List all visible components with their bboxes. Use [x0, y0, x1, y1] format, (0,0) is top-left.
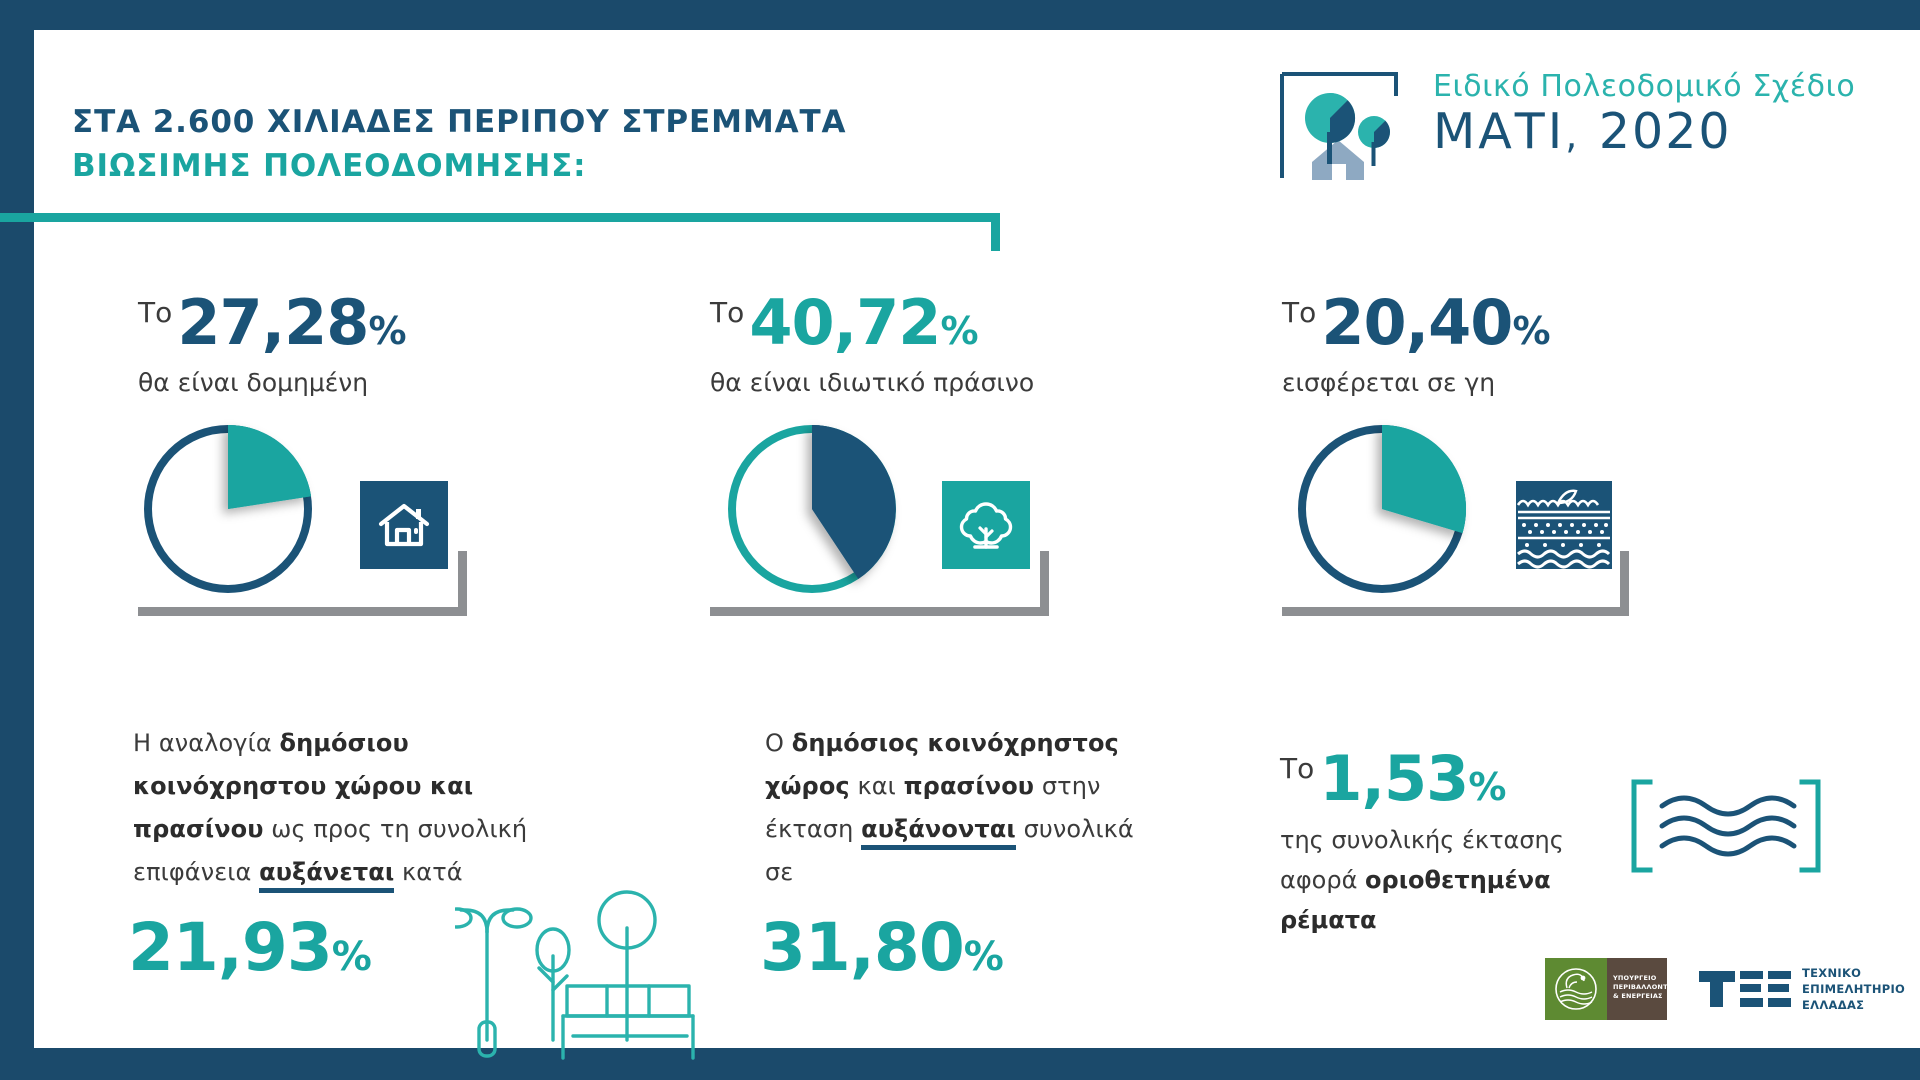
ministry-logo: ΥΠΟΥΡΓΕΙΟ ΠΕΡΙΒΑΛΛΟΝΤΟΣ & ΕΝΕΡΓΕΙΑΣ: [1545, 958, 1667, 1020]
stream-desc-line2-normal: αφορά: [1280, 866, 1365, 894]
frame-bottom-bar: [0, 1048, 1920, 1080]
project-logo-subtitle: Ειδικό Πολεοδομικό Σχέδιο: [1433, 72, 1855, 102]
house-icon: [360, 481, 448, 569]
stat-column-land-contribution: Το 20,40% εισφέρεται σε γη: [1282, 292, 1702, 619]
pie-chart-private-green: [722, 419, 902, 599]
page-title-line1: ΣΤΑ 2.600 ΧΙΛΙΑΔΕΣ ΠΕΡΙΠΟΥ ΣΤΡΕΜΜΑΤΑ: [72, 100, 1012, 144]
stat-percent-sign: %: [1512, 309, 1550, 353]
pie-chart-built: [138, 419, 318, 599]
ministry-logo-text: ΥΠΟΥΡΓΕΙΟ ΠΕΡΙΒΑΛΛΟΝΤΟΣ & ΕΝΕΡΓΕΙΑΣ: [1607, 958, 1667, 1020]
value-percent-sign: %: [964, 934, 1003, 980]
stream-desc-line3-bold: ρέματα: [1280, 906, 1377, 934]
stream-prefix: Το: [1280, 752, 1314, 785]
frame-top-bar: [0, 0, 1920, 30]
stream-headline: Το 1,53%: [1280, 748, 1610, 810]
stat-headline: Το 27,28%: [138, 292, 558, 354]
stat-prefix: Το: [1282, 296, 1316, 329]
project-logo-title: ΜΑΤΙ, 2020: [1433, 107, 1855, 156]
stat-caption: θα είναι δομημένη: [138, 368, 558, 397]
value-number: 31,80: [760, 909, 964, 986]
stat-column-private-green: Το 40,72% θα είναι ιδιωτικό πράσινο: [710, 292, 1130, 619]
stat-headline: Το 40,72%: [710, 292, 1130, 354]
project-logo-text: Ειδικό Πολεοδομικό Σχέδιο ΜΑΤΙ, 2020: [1433, 70, 1855, 156]
project-logo: Ειδικό Πολεοδομικό Σχέδιο ΜΑΤΙ, 2020: [1278, 70, 1855, 180]
stat-caption: θα είναι ιδιωτικό πράσινο: [710, 368, 1130, 397]
stat-value: 20,40: [1321, 286, 1512, 359]
stream-percent-sign: %: [1468, 765, 1506, 809]
stat-visual-row: [1282, 419, 1702, 619]
tee-line1: ΤΕΧΝΙΚΟ: [1802, 965, 1905, 981]
stream-desc-line1: της συνολικής έκτασης: [1280, 826, 1564, 854]
footer-logos: ΥΠΟΥΡΓΕΙΟ ΠΕΡΙΒΑΛΛΟΝΤΟΣ & ΕΝΕΡΓΕΙΑΣ ΤΕΧΝ…: [1545, 958, 1905, 1020]
value-percent-sign: %: [332, 934, 371, 980]
ministry-line2: ΠΕΡΙΒΑΛΛΟΝΤΟΣ: [1613, 983, 1667, 992]
stat-percent-sign: %: [368, 309, 406, 353]
frame-left-bar: [0, 0, 34, 1080]
base-bar: [1282, 607, 1629, 616]
pie-chart-land-contribution: [1292, 419, 1472, 599]
ministry-emblem-icon: [1545, 958, 1607, 1020]
public-space-ratio-value: 21,93%: [128, 915, 371, 981]
infographic-page: ΣΤΑ 2.600 ΧΙΛΙΑΔΕΣ ΠΕΡΙΠΟΥ ΣΤΡΕΜΜΑΤΑ ΒΙΩ…: [0, 0, 1920, 1080]
stat-prefix: Το: [138, 296, 172, 329]
stat-visual-row: [138, 419, 558, 619]
streetscape-illustration: [455, 890, 740, 1060]
tree-icon: [942, 481, 1030, 569]
tee-line2: ΕΠΙΜΕΛΗΤΗΡΙΟ: [1802, 981, 1905, 997]
stat-headline: Το 20,40%: [1282, 292, 1702, 354]
tee-line3: ΕΛΛΑΔΑΣ: [1802, 997, 1905, 1013]
stream-waves-icon: [1628, 778, 1824, 874]
page-title-line2: ΒΙΩΣΙΜΗΣ ΠΟΛΕΟΔΟΜΗΣΗΣ:: [72, 144, 1012, 188]
stream-value: 1,53: [1319, 742, 1468, 815]
tee-logo-text: ΤΕΧΝΙΚΟ ΕΠΙΜΕΛΗΤΗΡΙΟ ΕΛΛΑΔΑΣ: [1802, 965, 1905, 1013]
stat-value: 40,72: [749, 286, 940, 359]
stream-desc-line2-bold: οριοθετημένα: [1365, 866, 1551, 894]
stream-description: της συνολικής έκτασης αφορά οριοθετημένα…: [1280, 820, 1610, 940]
public-space-total-value: 31,80%: [760, 915, 1003, 981]
ministry-line3: & ΕΝΕΡΓΕΙΑΣ: [1613, 992, 1667, 1001]
delimited-streams-stat: Το 1,53% της συνολικής έκτασης αφορά ορι…: [1280, 748, 1610, 940]
project-logo-name: ΜΑΤΙ: [1433, 103, 1565, 160]
ministry-line1: ΥΠΟΥΡΓΕΙΟ: [1613, 974, 1667, 983]
base-bar: [710, 607, 1049, 616]
header-accent-bar: [0, 213, 1000, 222]
page-title: ΣΤΑ 2.600 ΧΙΛΙΑΔΕΣ ΠΕΡΙΠΟΥ ΣΤΡΕΜΜΑΤΑ ΒΙΩ…: [72, 100, 1012, 188]
tee-logo: ΤΕΧΝΙΚΟ ΕΠΙΜΕΛΗΤΗΡΙΟ ΕΛΛΑΔΑΣ: [1697, 965, 1905, 1013]
header-accent-tick: [991, 213, 1000, 251]
project-logo-year: 2020: [1599, 103, 1732, 160]
public-space-total-text: Ο δημόσιος κοινόχρηστος χώρος και πρασίν…: [765, 722, 1165, 894]
stat-value: 27,28: [177, 286, 368, 359]
base-bar: [138, 607, 467, 616]
stat-column-built: Το 27,28% θα είναι δομημένη: [138, 292, 558, 619]
public-space-ratio-text: Η αναλογία δημόσιου κοινόχρηστου χώρου κ…: [133, 722, 558, 894]
stat-visual-row: [710, 419, 1130, 619]
stat-caption: εισφέρεται σε γη: [1282, 368, 1702, 397]
land-strata-icon: [1514, 475, 1614, 575]
project-logo-mark-icon: [1278, 70, 1413, 180]
tee-logo-mark-icon: [1697, 967, 1793, 1011]
stat-percent-sign: %: [940, 309, 978, 353]
stat-prefix: Το: [710, 296, 744, 329]
header-accent-bracket: [0, 213, 1000, 257]
value-number: 21,93: [128, 909, 332, 986]
